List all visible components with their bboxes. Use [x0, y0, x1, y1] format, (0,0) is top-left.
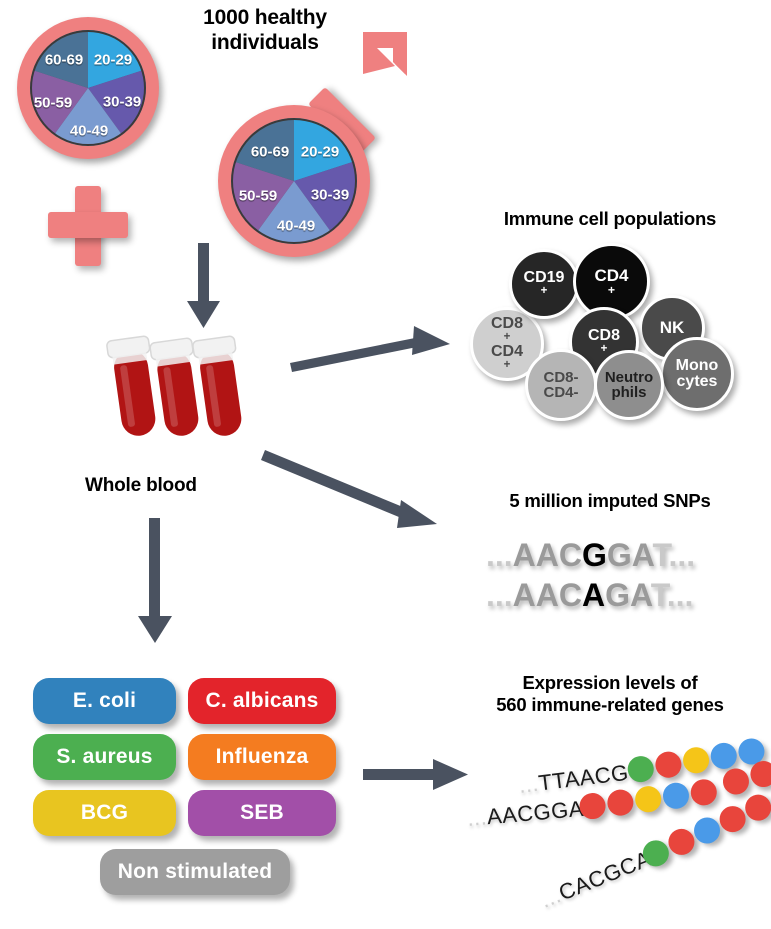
bead-blue [709, 741, 738, 770]
male-age-label-60-69: 60-69 [251, 144, 289, 161]
stimulus-non-stimulated[interactable]: Non stimulated [100, 849, 290, 895]
female-age-label-60-69: 60-69 [45, 52, 83, 69]
snp-ellipsis-right: ... [667, 577, 694, 613]
cell-label: CD4+ [594, 267, 628, 297]
cell-label-line2: cytes [676, 374, 719, 390]
female-stem-cross [48, 212, 128, 238]
immune-cell-monocytes: Monocytes [660, 337, 734, 411]
bead-red [606, 789, 634, 817]
expression-title-line2: 560 immune-related genes [450, 694, 770, 716]
section-title-immune-cells: Immune cell populations [455, 208, 765, 230]
female-age-label-40-49: 40-49 [70, 123, 108, 140]
strand-sequence-2: ...AACGGAT [466, 795, 597, 832]
snp-prefix: AAC [513, 537, 582, 573]
label-whole-blood: Whole blood [85, 475, 255, 497]
arrow-stimuli-to-expression [363, 758, 473, 792]
figure-canvas: 1000 healthy individuals 20-29 30-39 [0, 0, 771, 922]
snp-suffix: GA [605, 577, 651, 613]
male-arrow-head [355, 28, 425, 100]
arrow-blood-to-snps [265, 450, 455, 545]
male-age-label-20-29: 20-29 [301, 144, 339, 161]
stimulus-c-albicans[interactable]: C. albicans [188, 678, 336, 724]
cell-label-line1: Mono [676, 358, 719, 374]
cohort-title-line2: individuals [160, 31, 370, 56]
male-age-label-30-39: 30-39 [311, 187, 349, 204]
cell-label-line2: CD4- [543, 385, 578, 400]
snp-ellipsis-left: ... [486, 577, 513, 613]
cell-label: NK [660, 319, 685, 336]
male-age-label-50-59: 50-59 [239, 188, 277, 205]
section-title-expression: Expression levels of 560 immune-related … [450, 672, 770, 716]
cell-label: CD19+ [524, 270, 565, 298]
female-age-label-20-29: 20-29 [94, 52, 132, 69]
blood-tubes [100, 330, 260, 465]
immune-cell-neutrophils: Neutrophils [594, 350, 664, 420]
bead-red [654, 750, 683, 779]
cell-label-line2: phils [605, 385, 653, 400]
section-title-snps: 5 million imputed SNPs [455, 490, 765, 512]
female-age-label-50-59: 50-59 [34, 95, 72, 112]
snp-variant-allele: A [582, 577, 605, 613]
cell-label-line1: CD8+ [491, 316, 523, 344]
cohort-title-line1: 1000 healthy [160, 6, 370, 31]
snp-ellipsis-right: ... [669, 537, 696, 573]
cell-label-line1: Neutro [605, 370, 653, 385]
male-age-label-40-49: 40-49 [277, 218, 315, 235]
immune-cell-cd19pos: CD19+ [509, 249, 579, 319]
arrow-cohort-to-blood [186, 243, 226, 333]
arrow-blood-to-stimuli [135, 518, 177, 643]
cell-label-line2: CD4+ [491, 344, 523, 372]
stimulus-e-coli[interactable]: E. coli [33, 678, 176, 724]
snp-prefix: AAC [513, 577, 582, 613]
snp-sequence-row-1: ...AACGGAT... [486, 537, 695, 574]
strand-ellipsis: ... [466, 804, 488, 831]
page-title-cohort: 1000 healthy individuals [160, 6, 370, 56]
snp-variant-allele: G [582, 537, 607, 573]
snp-suffix: GA [607, 537, 653, 573]
cell-label-line1: CD8- [543, 370, 578, 385]
stimulus-s-aureus[interactable]: S. aureus [33, 734, 176, 780]
immune-cell-cd8neg-cd4neg: CD8-CD4- [525, 349, 597, 421]
snp-suffix-fade: T [653, 537, 669, 573]
female-age-label-30-39: 30-39 [103, 94, 141, 111]
stimulus-influenza[interactable]: Influenza [188, 734, 336, 780]
stimulus-bcg[interactable]: BCG [33, 790, 176, 836]
snp-sequence-row-2: ...AACAGAT... [486, 577, 693, 614]
stimulus-seb[interactable]: SEB [188, 790, 336, 836]
expression-title-line1: Expression levels of [450, 672, 770, 694]
snp-suffix-fade: T [651, 577, 667, 613]
arrow-blood-to-immune [290, 322, 455, 382]
bead-yellow [682, 746, 711, 775]
snp-ellipsis-left: ... [486, 537, 513, 573]
